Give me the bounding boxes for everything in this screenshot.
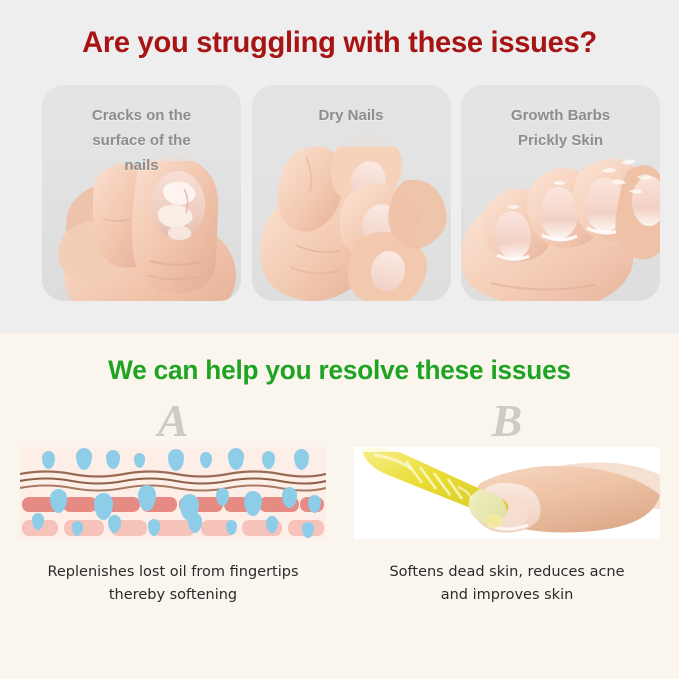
problem-card-label: Dry Nails	[252, 103, 451, 128]
problem-card-label-line: Cracks on the	[42, 103, 241, 128]
oil-dropper-on-fingernail-photo	[354, 447, 660, 539]
oil-application-photo-frame	[354, 447, 660, 539]
moisture-droplet	[76, 448, 92, 470]
solution-caption-b: Softens dead skin, reduces acne and impr…	[342, 561, 672, 607]
problem-card-label-line: Dry Nails	[252, 103, 451, 128]
solution-panel-a: A	[20, 395, 326, 539]
solution-panel-b: B	[354, 395, 660, 539]
problem-card-label-line: Prickly Skin	[461, 128, 660, 153]
skin-cell-block	[64, 520, 104, 536]
moisture-droplet	[262, 451, 275, 469]
panel-letter-a: A	[20, 395, 326, 447]
solution-caption-list: Replenishes lost oil from fingertips the…	[0, 561, 679, 631]
skin-surface-wave-lines	[20, 470, 326, 492]
problem-card-label: Growth Barbs Prickly Skin	[461, 103, 660, 153]
solution-section: We can help you resolve these issues A	[0, 333, 679, 679]
moisture-droplet	[244, 491, 262, 516]
solution-caption-a: Replenishes lost oil from fingertips the…	[8, 561, 338, 607]
skin-cell-row-lower	[20, 520, 326, 536]
solution-caption-line: and improves skin	[342, 584, 672, 607]
solution-caption-line: thereby softening	[8, 584, 338, 607]
problem-card-label: Cracks on the surface of the nails	[42, 103, 241, 178]
problem-card-cracked-nails: Cracks on the surface of the nails	[42, 85, 241, 301]
solution-caption-line: Replenishes lost oil from fingertips	[8, 561, 338, 584]
infographic-page: Are you struggling with these issues?	[0, 0, 679, 679]
moisture-droplet	[106, 450, 120, 469]
moisture-droplet	[294, 449, 309, 470]
problem-card-label-line: nails	[42, 153, 241, 178]
problem-card-dry-nails: Dry Nails	[252, 85, 451, 301]
skin-cell-block	[63, 497, 97, 512]
problem-card-label-line: Growth Barbs	[461, 103, 660, 128]
solution-caption-line: Softens dead skin, reduces acne	[342, 561, 672, 584]
moisture-droplet	[42, 451, 55, 469]
problem-card-growth-barbs: Growth Barbs Prickly Skin	[461, 85, 660, 301]
skin-diagram-base	[20, 447, 326, 539]
problems-section: Are you struggling with these issues?	[0, 0, 679, 333]
problem-card-list: Cracks on the surface of the nails	[42, 85, 660, 301]
moisture-droplet	[134, 453, 145, 468]
moisture-droplet	[200, 452, 212, 468]
moisture-droplet	[168, 449, 184, 471]
problems-title: Are you struggling with these issues?	[10, 26, 669, 60]
problem-card-label-line: surface of the	[42, 128, 241, 153]
skin-cross-section-moisture-diagram	[20, 447, 326, 539]
solution-title: We can help you resolve these issues	[10, 355, 669, 386]
panel-letter-b: B	[354, 395, 660, 447]
moisture-droplet	[228, 448, 244, 470]
